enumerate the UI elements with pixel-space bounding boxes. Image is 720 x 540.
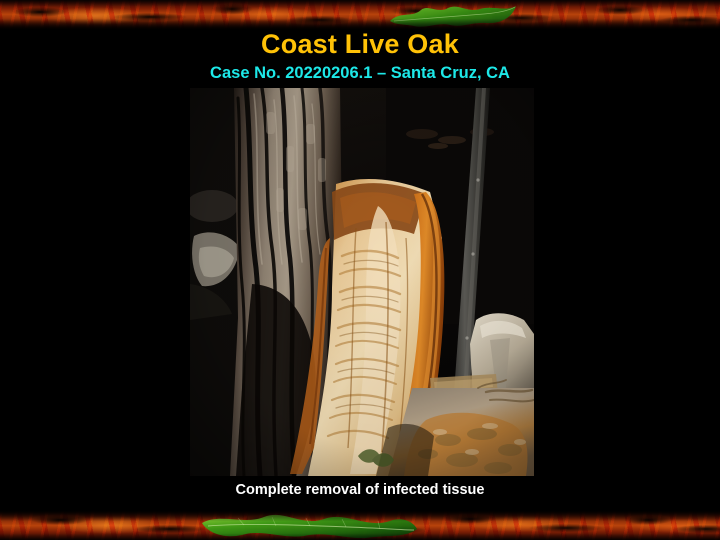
fire-leaf-border-top xyxy=(0,0,720,30)
border-fade-top xyxy=(0,0,720,30)
coast-live-oak-trunk-photo xyxy=(190,88,534,476)
slide-caption: Complete removal of infected tissue xyxy=(0,481,720,499)
fire-leaf-border-bottom xyxy=(0,510,720,540)
presentation-slide: Coast Live Oak Case No. 20220206.1 – San… xyxy=(0,0,720,540)
slide-title: Coast Live Oak xyxy=(0,29,720,59)
slide-subtitle: Case No. 20220206.1 – Santa Cruz, CA xyxy=(0,63,720,83)
photo-content xyxy=(190,88,534,476)
border-fade-bottom xyxy=(0,510,720,540)
